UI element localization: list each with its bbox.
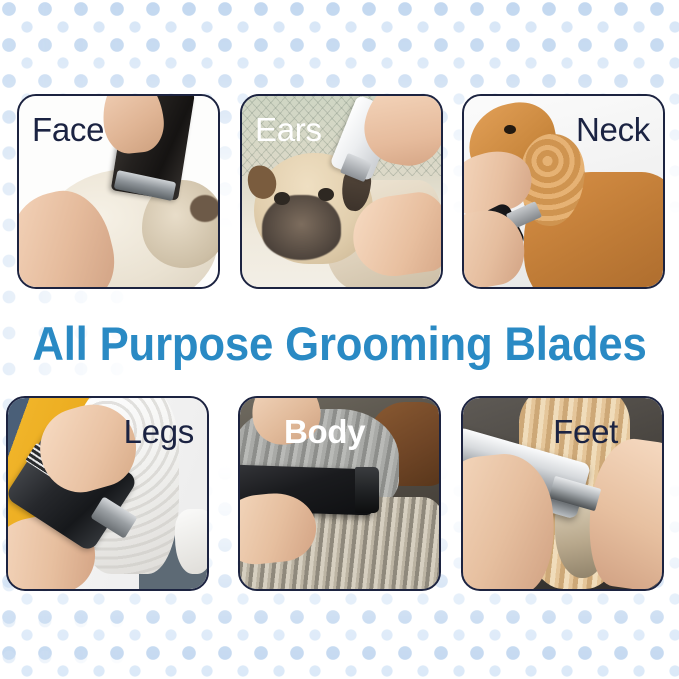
- grooming-card-body: Body: [238, 396, 441, 591]
- card-label-face: Face: [32, 113, 104, 146]
- grooming-card-face: Face: [17, 94, 220, 289]
- grooming-card-legs: Legs: [6, 396, 209, 591]
- grooming-card-feet: Feet: [461, 396, 664, 591]
- dog-nose-shape: [190, 195, 218, 222]
- grooming-card-ears: Ears: [240, 94, 443, 289]
- card-label-neck: Neck: [576, 113, 650, 146]
- card-label-body: Body: [284, 415, 365, 448]
- headline-text: All Purpose Grooming Blades: [24, 316, 655, 372]
- dog-eye-shape: [274, 192, 290, 205]
- dog-paw-shape: [175, 509, 207, 574]
- card-label-feet: Feet: [553, 415, 618, 448]
- grooming-card-neck: Neck: [462, 94, 665, 289]
- dog-eye-shape: [318, 188, 334, 201]
- card-label-ears: Ears: [255, 113, 322, 146]
- product-infographic: Face Ears: [0, 0, 679, 679]
- dog-eye-shape: [504, 125, 516, 135]
- card-label-legs: Legs: [124, 415, 194, 448]
- dog-muzzle-shape: [262, 195, 342, 260]
- clipper-blade-shape: [355, 467, 379, 513]
